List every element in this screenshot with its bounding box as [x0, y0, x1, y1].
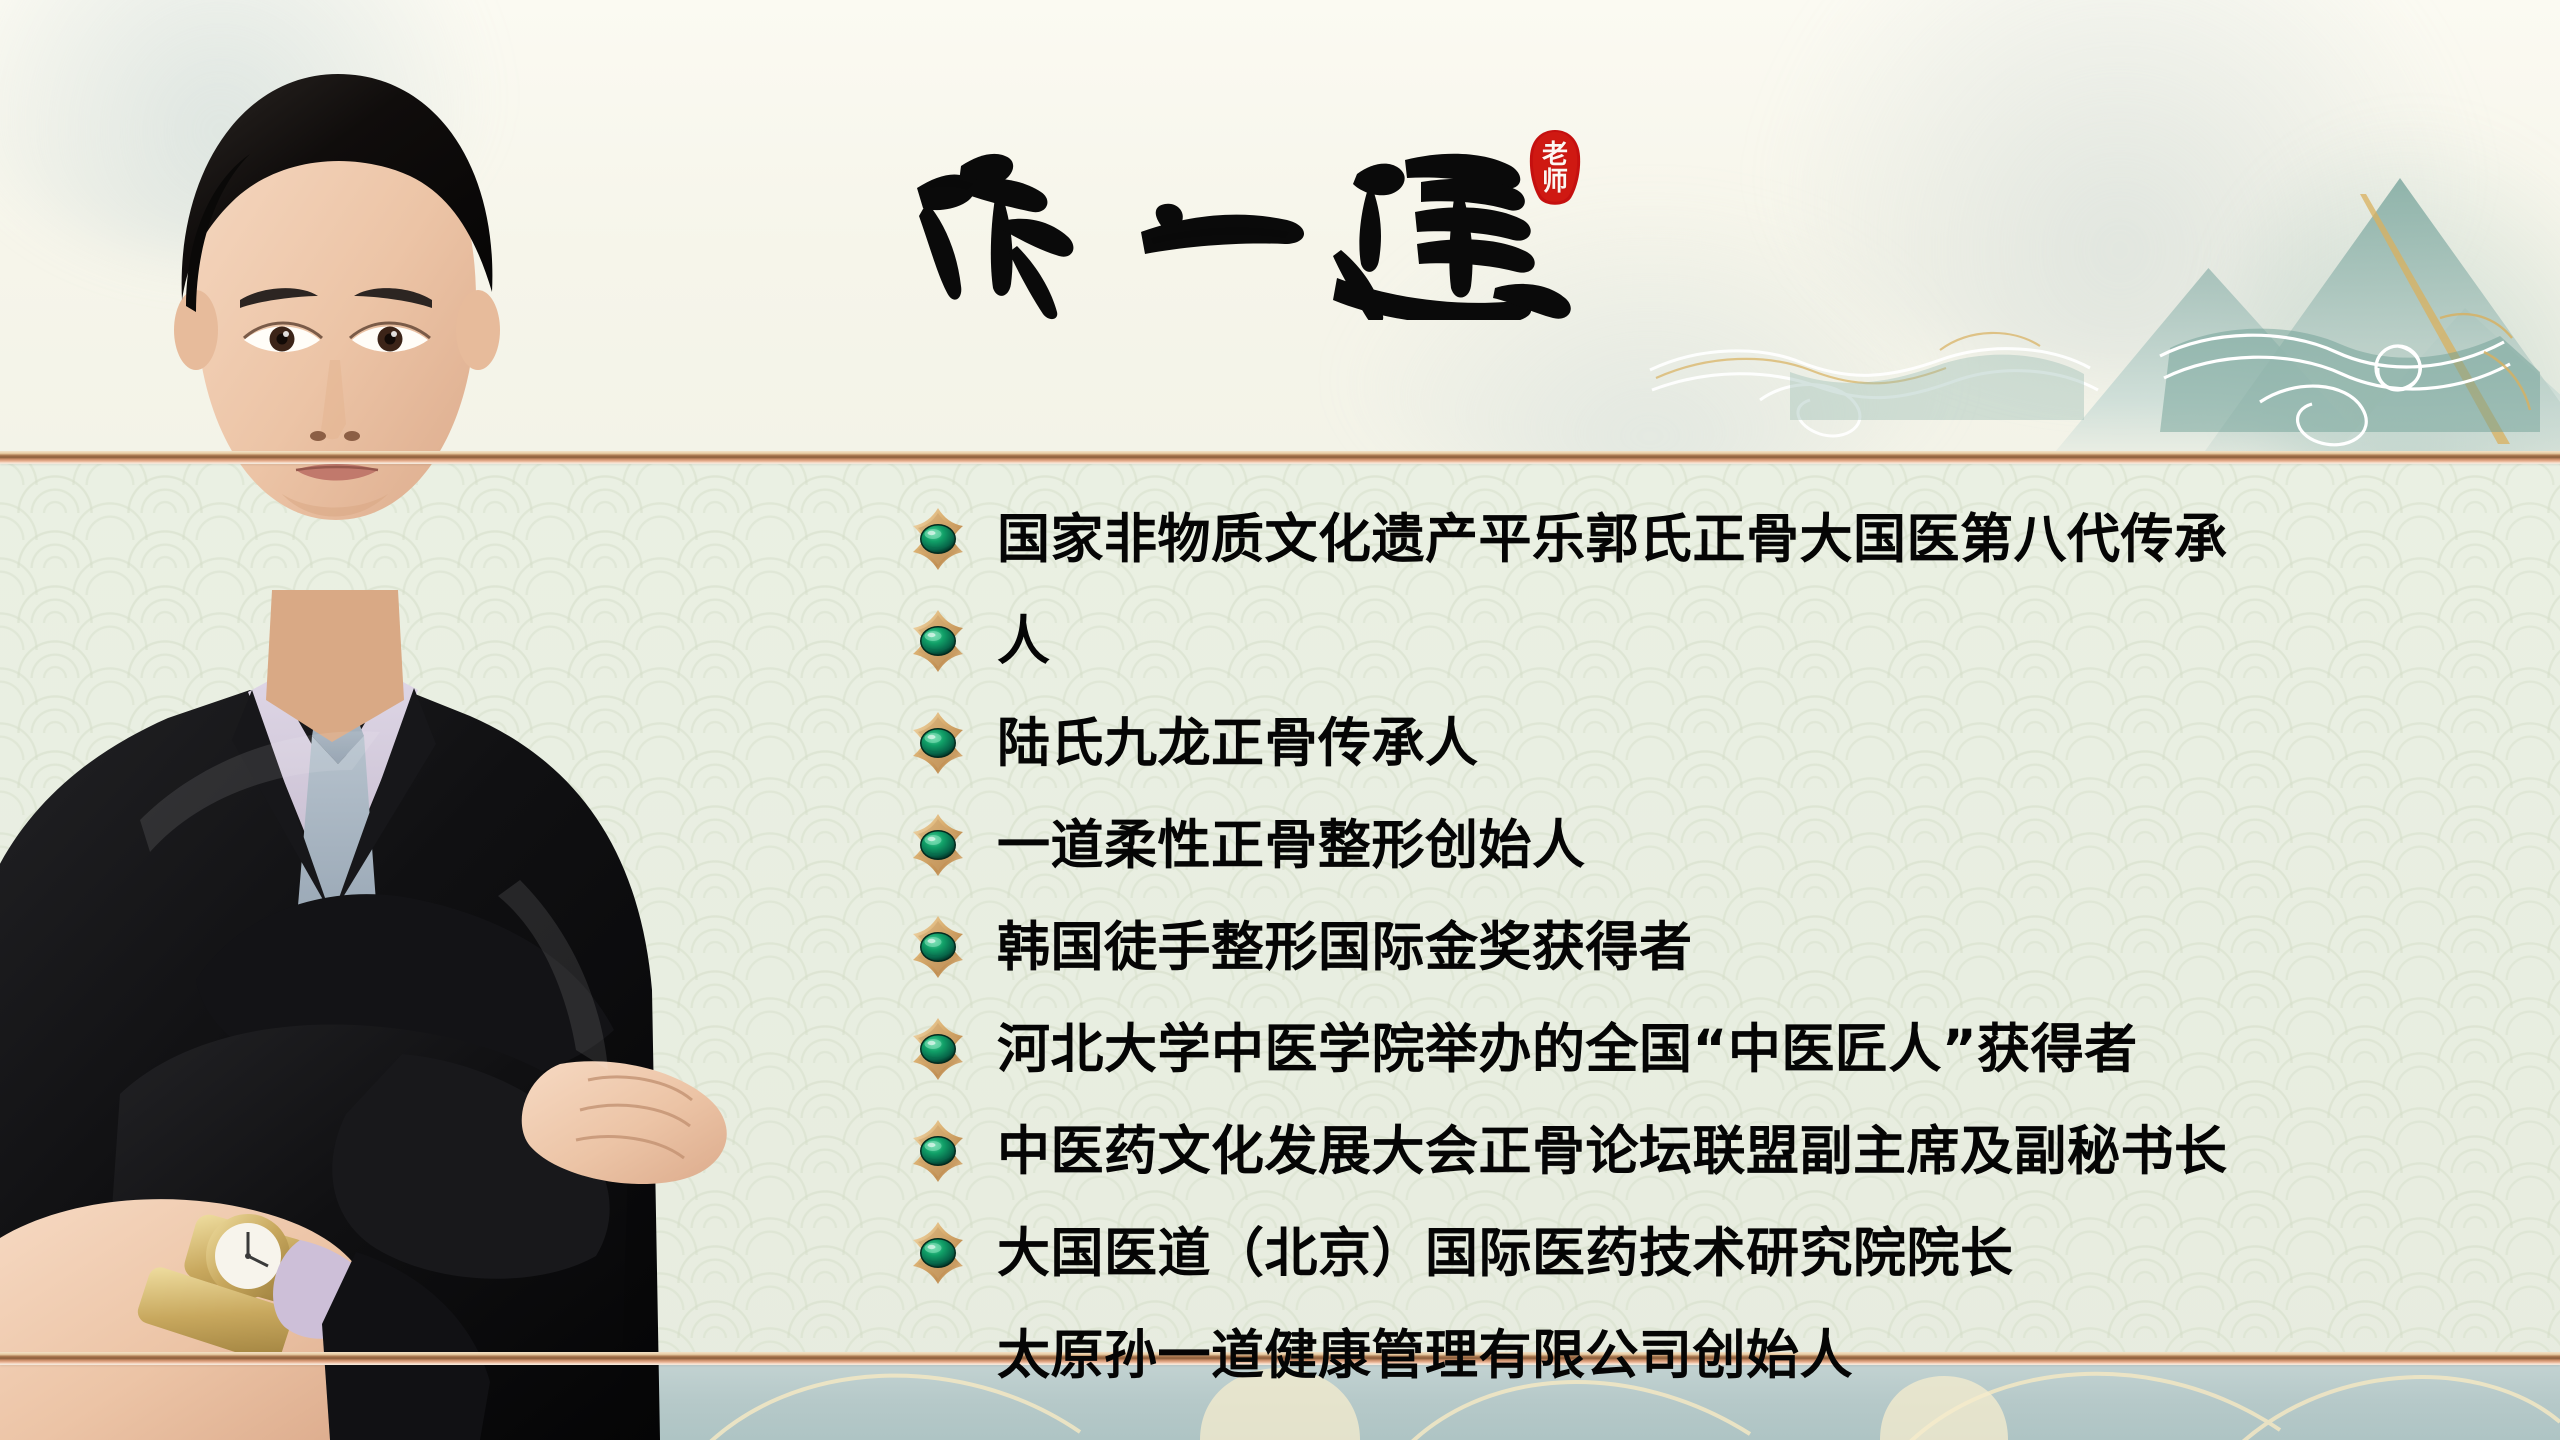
emerald-gem-bullet-icon — [905, 1016, 971, 1082]
credential-text: 一道柔性正骨整形创始人 — [997, 819, 1586, 872]
credential-row: 太原孙一道健康管理有限公司创始人 — [905, 1304, 2505, 1406]
emerald-gem-bullet-icon — [905, 914, 971, 980]
credential-row: 国家非物质文化遗产平乐郭氏正骨大国医第八代传承 — [905, 488, 2505, 590]
credential-row: 韩国徒手整形国际金奖获得者 — [905, 896, 2505, 998]
credential-row: 中医药文化发展大会正骨论坛联盟副主席及副秘书长 — [905, 1100, 2505, 1202]
title-block: 孙一道 老 师 — [905, 120, 1605, 320]
credential-row: 人 — [905, 590, 2505, 692]
emerald-gem-bullet-icon — [905, 1220, 971, 1286]
emerald-gem-bullet-icon — [905, 608, 971, 674]
cloud-swirl-left-icon — [1640, 250, 2160, 450]
credential-row: 大国医道（北京）国际医药技术研究院院长 — [905, 1202, 2505, 1304]
emerald-gem-bullet-icon — [905, 506, 971, 572]
seal-char-1: 老 — [1542, 142, 1568, 168]
ink-wash-blob-left — [0, 0, 500, 260]
credentials-list: 国家非物质文化遗产平乐郭氏正骨大国医第八代传承 人 — [905, 488, 2505, 1406]
credential-text: 韩国徒手整形国际金奖获得者 — [997, 921, 1693, 974]
credential-text: 陆氏九龙正骨传承人 — [997, 717, 1479, 770]
credential-row: 一道柔性正骨整形创始人 — [905, 794, 2505, 896]
credential-row: 河北大学中医学院举办的全国“中医匠人”获得者 — [905, 998, 2505, 1100]
emerald-gem-bullet-icon — [905, 710, 971, 776]
credential-text: 国家非物质文化遗产平乐郭氏正骨大国医第八代传承 — [997, 513, 2228, 566]
emerald-gem-bullet-icon — [905, 1118, 971, 1184]
emerald-gem-bullet-icon — [905, 812, 971, 878]
emerald-gem-bullet-icon — [905, 1118, 971, 1184]
seal-stamp-icon: 老 师 — [1525, 128, 1585, 208]
calligraphy-title-icon — [905, 120, 1605, 320]
credential-text: 太原孙一道健康管理有限公司创始人 — [997, 1329, 1853, 1382]
emerald-gem-bullet-icon — [905, 1016, 971, 1082]
slide-canvas: 孙一道 老 师 — [0, 0, 2560, 1440]
seal-characters: 老 师 — [1525, 128, 1585, 208]
emerald-gem-bullet-icon — [905, 812, 971, 878]
cloud-swirl-right-icon — [2140, 252, 2560, 452]
emerald-gem-bullet-icon — [905, 1220, 971, 1286]
credential-text: 中医药文化发展大会正骨论坛联盟副主席及副秘书长 — [997, 1125, 2228, 1178]
gold-divider-top — [0, 451, 2560, 464]
credential-text: 河北大学中医学院举办的全国“中医匠人”获得者 — [997, 1023, 2138, 1076]
seal-char-2: 师 — [1542, 169, 1568, 195]
credential-text: 大国医道（北京）国际医药技术研究院院长 — [997, 1227, 2014, 1280]
emerald-gem-bullet-icon — [905, 506, 971, 572]
emerald-gem-bullet-icon — [905, 914, 971, 980]
credential-row: 陆氏九龙正骨传承人 — [905, 692, 2505, 794]
emerald-gem-bullet-icon — [905, 710, 971, 776]
credential-text: 人 — [997, 615, 1051, 668]
emerald-gem-bullet-icon — [905, 608, 971, 674]
